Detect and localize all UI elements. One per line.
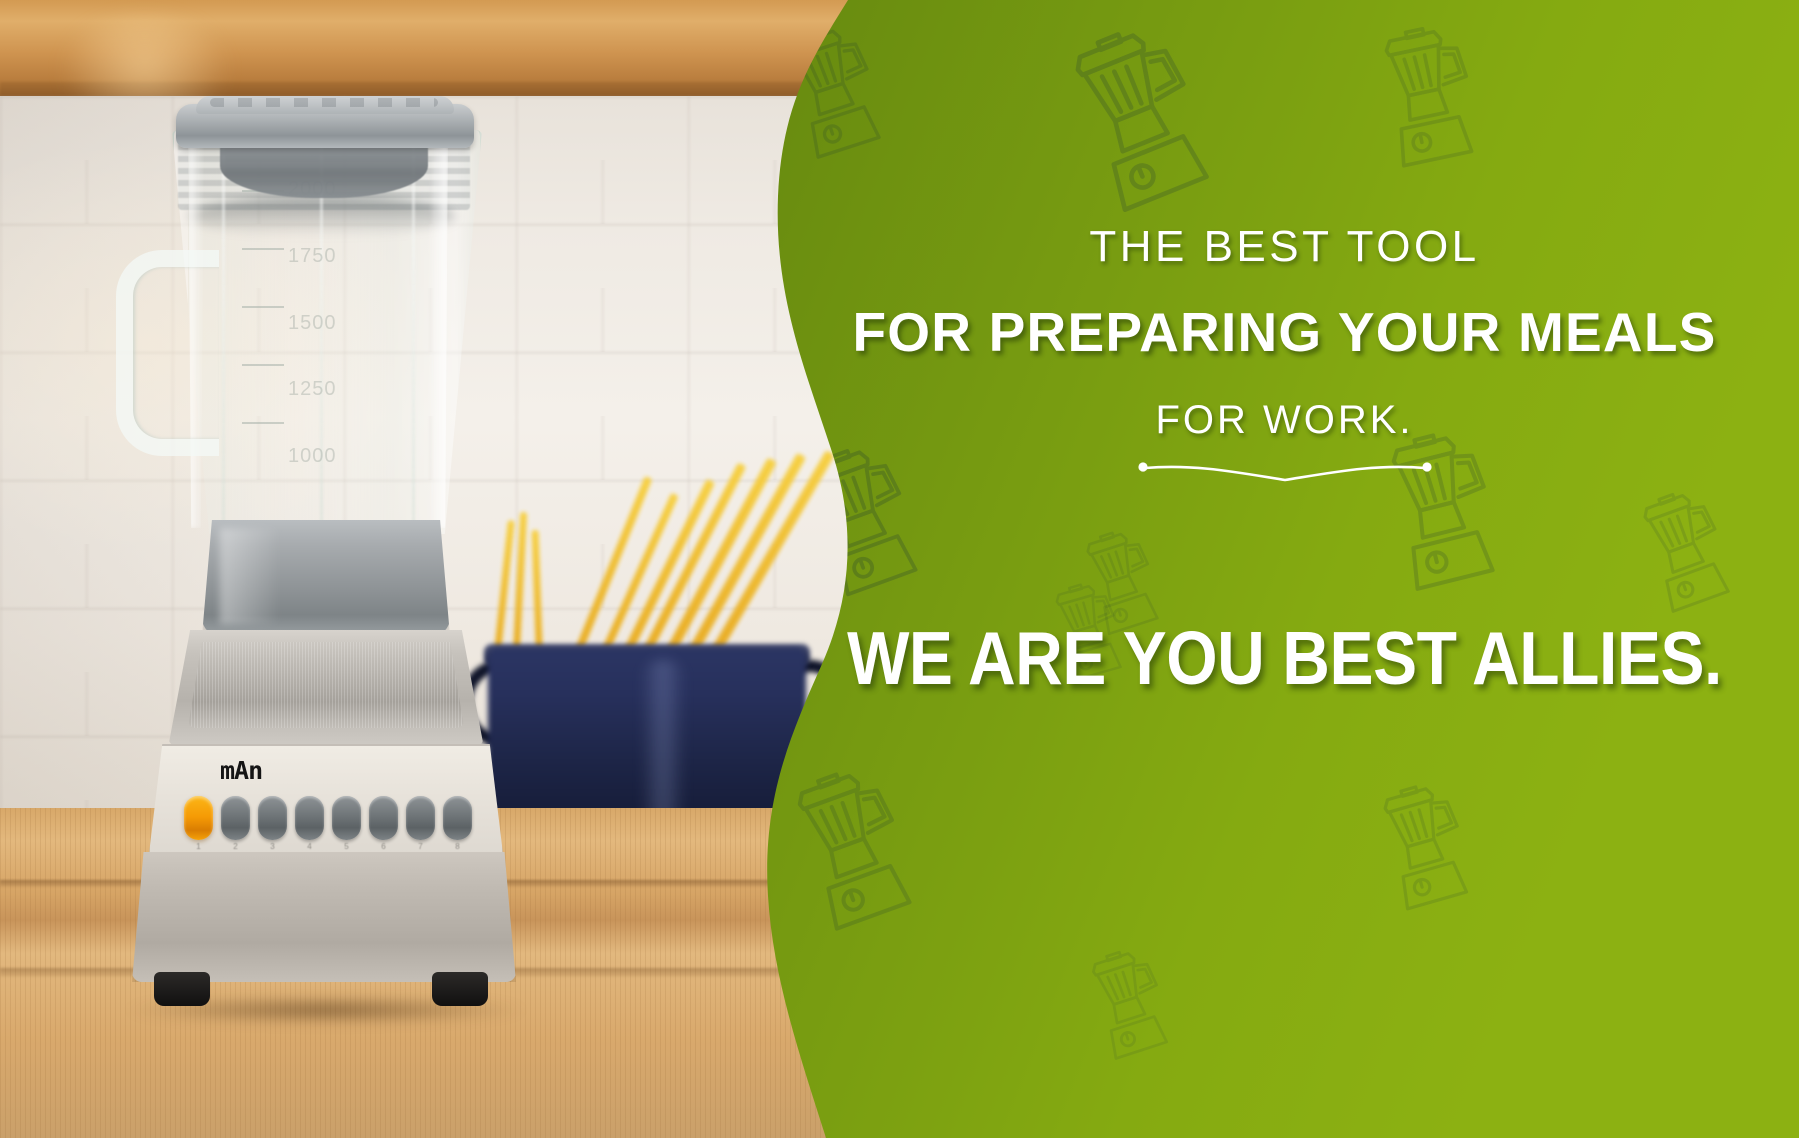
headline-line-big: WE ARE YOU BEST ALLIES. (832, 615, 1738, 701)
ornament-divider (770, 452, 1799, 498)
promo-banner: 2000 1750 1500 1250 1000 mAn (0, 0, 1799, 1138)
headline-line-sub: FOR WORK. (770, 398, 1799, 443)
headline-line-main: FOR PREPARING YOUR MEALS (770, 300, 1799, 364)
swirl-divider-icon (1135, 458, 1435, 492)
headline-block: THE BEST TOOL FOR PREPARING YOUR MEALS F… (770, 0, 1799, 1138)
headline-line-top: THE BEST TOOL (770, 222, 1799, 272)
